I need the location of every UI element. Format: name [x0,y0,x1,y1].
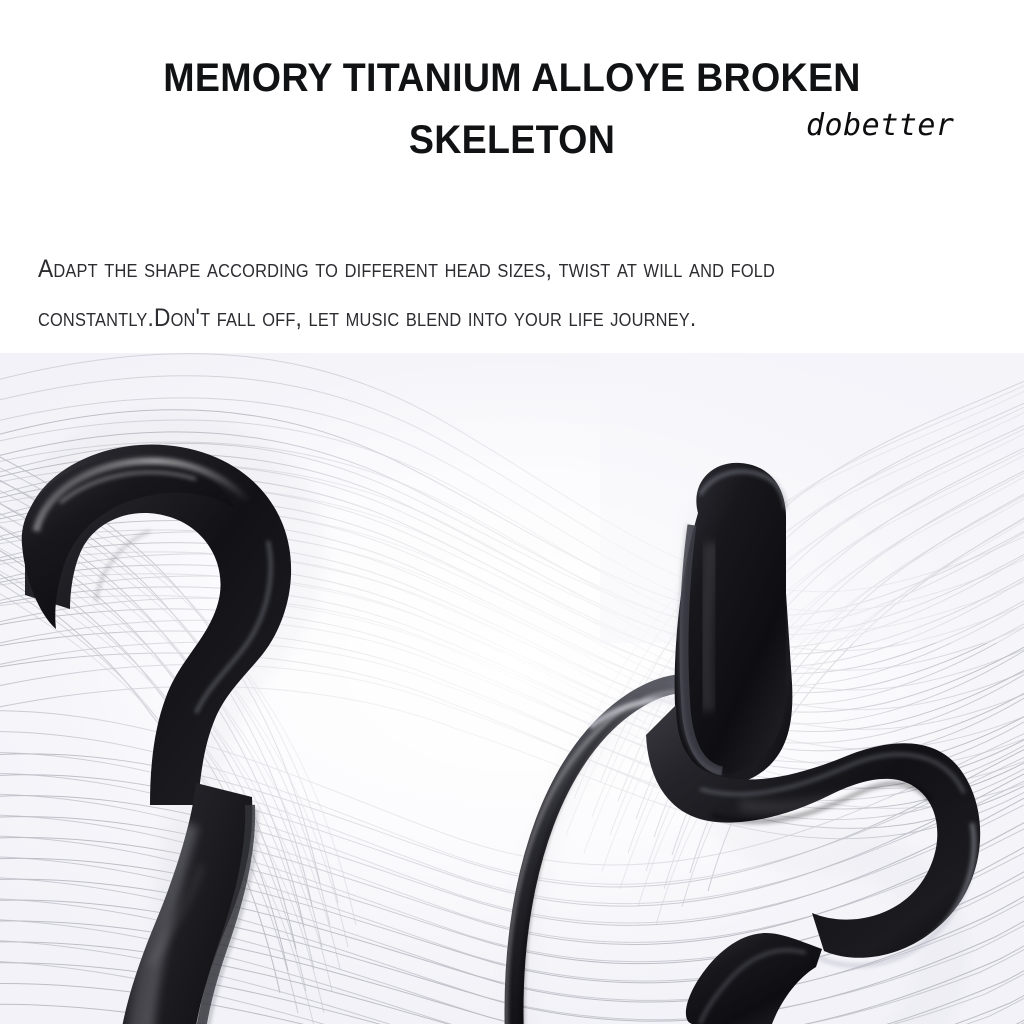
right-earpiece [646,463,980,1024]
headphones-product-illustration [0,353,1024,1024]
brand-watermark: dobetter [806,108,955,143]
product-image [0,353,1024,1024]
header-text-block: MEMORY TITANIUM ALLOYE BROKEN SKELETON d… [0,0,1024,353]
headline-line-1: MEMORY TITANIUM ALLOYE BROKEN [31,52,994,104]
description-text: Adapt the shape according to different h… [38,245,904,343]
product-banner: MEMORY TITANIUM ALLOYE BROKEN SKELETON d… [0,0,1024,1024]
left-earpiece [22,438,318,1024]
